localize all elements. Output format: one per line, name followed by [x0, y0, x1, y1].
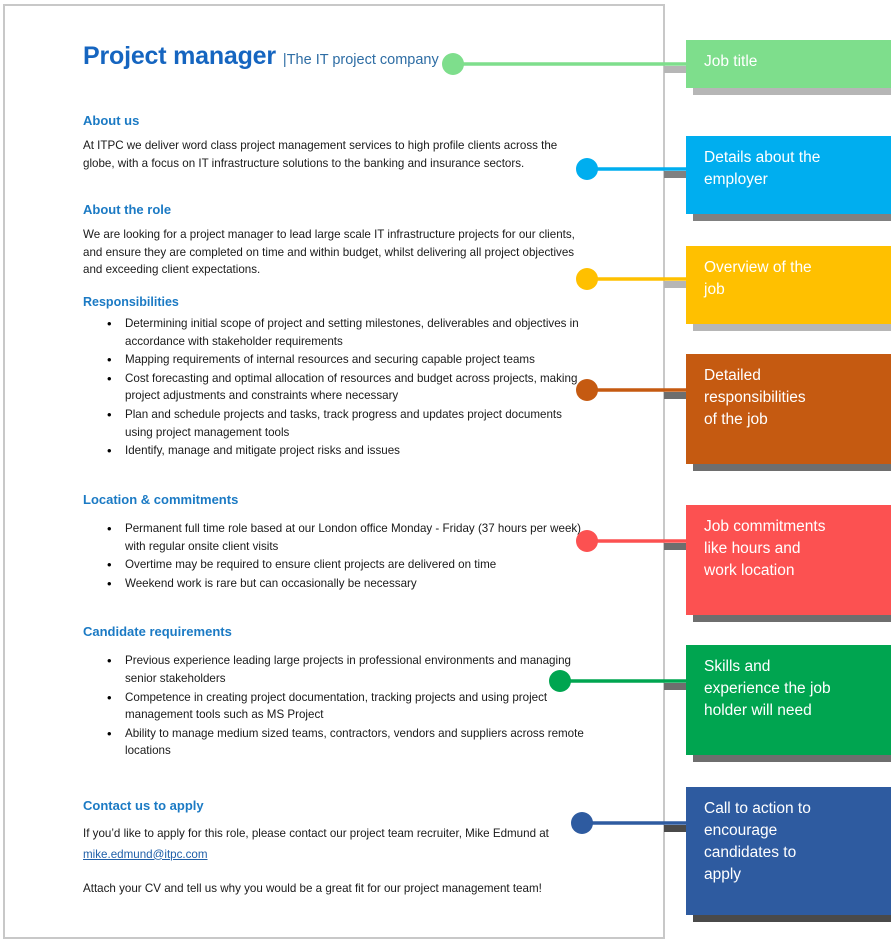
- list-item: Competence in creating project documenta…: [125, 689, 591, 724]
- callout-call-to-action: Call to action toencouragecandidates toa…: [686, 787, 891, 915]
- list-item: Permanent full time role based at our Lo…: [125, 520, 591, 555]
- about-us-paragraph: At ITPC we deliver word class project ma…: [83, 137, 591, 172]
- callout-label-line: employer: [704, 169, 877, 191]
- callout-label-line: responsibilities: [704, 387, 877, 409]
- callout-label-line: Job title: [704, 51, 877, 73]
- callout-label-line: holder will need: [704, 700, 877, 722]
- callout-label-line: of the job: [704, 409, 877, 431]
- subheading-responsibilities: Responsibilities: [83, 295, 591, 309]
- list-item: Previous experience leading large projec…: [125, 652, 591, 687]
- section-contact-us: Contact us to apply If you’d like to app…: [83, 798, 591, 897]
- callout-label-line: Call to action to: [704, 798, 877, 820]
- callout-job-overview: Overview of thejob: [686, 246, 891, 324]
- recruiter-email-link[interactable]: mike.edmund@itpc.com: [83, 848, 208, 861]
- page-title: Project manager: [83, 42, 276, 71]
- callout-employer-details: Details about theemployer: [686, 136, 891, 214]
- section-heading-contact-us: Contact us to apply: [83, 798, 591, 813]
- closing-text: Attach your CV and tell us why you would…: [83, 880, 591, 898]
- callout-job-commitments: Job commitmentslike hours andwork locati…: [686, 505, 891, 615]
- callout-skills-experience: Skills andexperience the jobholder will …: [686, 645, 891, 755]
- callout-label-line: Details about the: [704, 147, 877, 169]
- company-name: |The IT project company: [283, 52, 439, 68]
- list-item: Plan and schedule projects and tasks, tr…: [125, 406, 591, 441]
- callout-label-line: Detailed: [704, 365, 877, 387]
- section-heading-location-commitments: Location & commitments: [83, 492, 591, 507]
- callout-label-line: experience the job: [704, 678, 877, 700]
- callout-detailed-responsibilities: Detailedresponsibilitiesof the job: [686, 354, 891, 464]
- callout-job-title: Job title: [686, 40, 891, 88]
- section-about-us: About us At ITPC we deliver word class p…: [83, 113, 591, 172]
- callout-label-line: work location: [704, 560, 877, 582]
- section-heading-about-us: About us: [83, 113, 591, 128]
- list-item: Cost forecasting and optimal allocation …: [125, 370, 591, 405]
- list-item: Ability to manage medium sized teams, co…: [125, 725, 591, 760]
- section-candidate-requirements: Candidate requirements Previous experien…: [83, 624, 591, 760]
- document-body: Project manager |The IT project company …: [83, 42, 591, 897]
- section-about-the-role: About the role We are looking for a proj…: [83, 202, 591, 460]
- list-item: Determining initial scope of project and…: [125, 315, 591, 350]
- callout-label-line: Skills and: [704, 656, 877, 678]
- job-advert-document: Project manager |The IT project company …: [3, 4, 665, 939]
- responsibilities-list: Determining initial scope of project and…: [83, 315, 591, 460]
- callout-label-line: candidates to: [704, 842, 877, 864]
- section-location-commitments: Location & commitments Permanent full ti…: [83, 492, 591, 592]
- callout-label-line: Job commitments: [704, 516, 877, 538]
- job-header: Project manager |The IT project company: [83, 42, 591, 71]
- section-heading-about-the-role: About the role: [83, 202, 591, 217]
- list-item: Overtime may be required to ensure clien…: [125, 556, 591, 574]
- contact-lead-text: If you’d like to apply for this role, pl…: [83, 825, 591, 843]
- callout-label-line: apply: [704, 864, 877, 886]
- list-item: Weekend work is rare but can occasionall…: [125, 575, 591, 593]
- list-item: Identify, manage and mitigate project ri…: [125, 442, 591, 460]
- section-heading-candidate-requirements: Candidate requirements: [83, 624, 591, 639]
- callout-label-line: job: [704, 279, 877, 301]
- about-the-role-paragraph: We are looking for a project manager to …: [83, 226, 591, 279]
- requirements-list: Previous experience leading large projec…: [83, 652, 591, 760]
- callout-label-line: Overview of the: [704, 257, 877, 279]
- callout-label-line: encourage: [704, 820, 877, 842]
- callout-label-line: like hours and: [704, 538, 877, 560]
- list-item: Mapping requirements of internal resourc…: [125, 351, 591, 369]
- commitments-list: Permanent full time role based at our Lo…: [83, 520, 591, 592]
